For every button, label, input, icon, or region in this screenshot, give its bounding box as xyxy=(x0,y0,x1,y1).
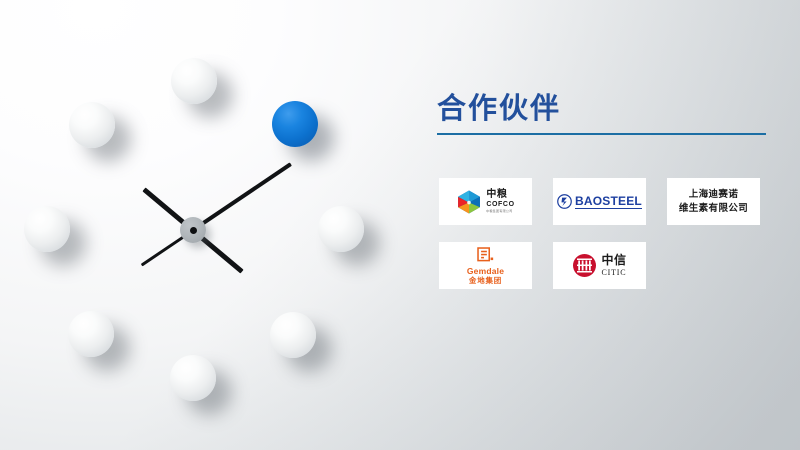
clock-marker-10-30 xyxy=(69,102,115,148)
page-title: 合作伙伴 xyxy=(437,95,767,124)
partner-logo-grid: 中粮 COFCO 中粮集团有限公司 BAOSTEEL 上海迪赛诺 维生素有限公司 xyxy=(439,178,763,289)
partner-card-cofco[interactable]: 中粮 COFCO 中粮集团有限公司 xyxy=(439,178,532,225)
gemdale-name-cn: 金地集团 xyxy=(467,277,504,285)
clock-marker-9 xyxy=(24,206,70,252)
partner-card-baosteel[interactable]: BAOSTEEL xyxy=(553,178,646,225)
gemdale-square-icon xyxy=(477,247,494,264)
clock-center-cap xyxy=(190,227,197,234)
disino-name-line1: 上海迪赛诺 xyxy=(679,188,748,202)
gemdale-name-en: Gemdale xyxy=(467,267,504,276)
clock-marker-7-30 xyxy=(68,311,114,357)
cofco-name-cn: 中粮 xyxy=(486,190,514,200)
partner-card-disino[interactable]: 上海迪赛诺 维生素有限公司 xyxy=(667,178,760,225)
disino-name-line2: 维生素有限公司 xyxy=(679,202,748,216)
citic-seal-icon xyxy=(572,253,597,278)
cofco-cube-icon xyxy=(456,189,482,215)
baosteel-name: BAOSTEEL xyxy=(575,195,642,209)
partner-card-gemdale[interactable]: Gemdale 金地集团 xyxy=(439,242,532,289)
clock-marker-12 xyxy=(171,58,217,104)
clock-marker-4-30 xyxy=(270,312,316,358)
title-underline-divider xyxy=(437,133,766,135)
wall-clock-image xyxy=(0,0,400,450)
clock-marker-6 xyxy=(170,355,216,401)
clock-marker-3 xyxy=(318,206,364,252)
cofco-tagline: 中粮集团有限公司 xyxy=(486,210,513,213)
clock-marker-accent xyxy=(272,101,318,147)
citic-name-en: CITIC xyxy=(601,269,626,277)
partner-card-empty-slot xyxy=(667,242,760,289)
cofco-name-en: COFCO xyxy=(486,201,514,208)
baosteel-circle-icon xyxy=(557,194,572,209)
citic-name-cn: 中信 xyxy=(601,254,626,266)
partners-panel: 合作伙伴 xyxy=(437,95,767,135)
partner-card-citic[interactable]: 中信 CITIC xyxy=(553,242,646,289)
clock-minute-hand xyxy=(192,162,292,231)
slide-canvas: 合作伙伴 中粮 COFCO 中粮集团有限公司 xyxy=(0,0,800,450)
